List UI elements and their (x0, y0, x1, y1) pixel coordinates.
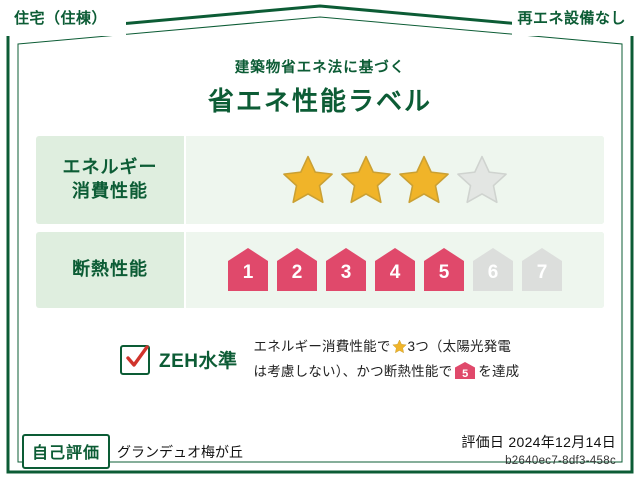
grade-house-2: 2 (275, 246, 319, 294)
footer-evaluation: 自己評価 グランデュオ梅が丘 (22, 434, 243, 469)
grade-number-5: 5 (422, 262, 466, 284)
tag-renewable-energy: 再エネ設備なし (517, 0, 626, 34)
energy-performance-label: 住宅（住棟） 再エネ設備なし 建築物省エネ法に基づく 省エネ性能ラベル エネルギ… (0, 0, 640, 480)
star-icon-filled-1 (281, 153, 335, 207)
inline-grade-house-icon: 5 (454, 361, 476, 380)
energy-label-line1: エネルギー (63, 156, 158, 180)
grade-house-6: 6 (471, 246, 515, 294)
grade-house-4: 4 (373, 246, 417, 294)
star-icon-filled-2 (339, 153, 393, 207)
grade-number-6: 6 (471, 262, 515, 284)
evaluation-type-badge: 自己評価 (22, 434, 110, 469)
inline-grade-number: 5 (454, 365, 476, 383)
star-icon-filled-3 (397, 153, 451, 207)
grade-house-5: 5 (422, 246, 466, 294)
grade-house-3: 3 (324, 246, 368, 294)
page-title: 省エネ性能ラベル (0, 81, 640, 118)
inline-star-icon (392, 339, 407, 361)
insulation-grades-container: 1 2 3 4 5 (186, 232, 604, 308)
zeh-desc-line1-b: 3つ（太陽光発電 (408, 339, 512, 354)
star-rating (281, 153, 509, 207)
grade-house-1: 1 (226, 246, 270, 294)
zeh-title: ZEH水準 (159, 346, 238, 373)
energy-label-line2: 消費性能 (72, 180, 148, 204)
grade-house-7: 7 (520, 246, 564, 294)
evaluation-date: 評価日 2024年12月14日 (461, 432, 616, 452)
evaluation-id: b2640ec7-8df3-458c (461, 455, 616, 467)
zeh-checkbox[interactable] (120, 345, 150, 375)
tag-building-type: 住宅（住棟） (14, 0, 107, 34)
grade-number-7: 7 (520, 262, 564, 284)
grade-number-2: 2 (275, 262, 319, 284)
heading-subtitle: 建築物省エネ法に基づく (0, 56, 640, 77)
grade-number-1: 1 (226, 262, 270, 284)
star-icon-empty-4 (455, 153, 509, 207)
footer-meta: 評価日 2024年12月14日 b2640ec7-8df3-458c (461, 432, 616, 467)
energy-performance-row: エネルギー 消費性能 (36, 136, 604, 224)
energy-performance-label-text: エネルギー 消費性能 (36, 136, 184, 224)
insulation-performance-label-text: 断熱性能 (36, 232, 184, 308)
grade-number-4: 4 (373, 262, 417, 284)
check-icon (123, 343, 151, 373)
zeh-row: ZEH水準 エネルギー消費性能で3つ（太陽光発電 は考慮しない）、かつ断熱性能で… (120, 336, 540, 384)
zeh-desc-line2-b: を達成 (478, 364, 519, 379)
insulation-label: 断熱性能 (72, 258, 148, 282)
zeh-desc-line2-a: は考慮しない）、かつ断熱性能で (254, 364, 453, 379)
grade-scale: 1 2 3 4 5 (226, 246, 564, 294)
zeh-desc-line1-a: エネルギー消費性能で (254, 339, 391, 354)
grade-number-3: 3 (324, 262, 368, 284)
zeh-description: エネルギー消費性能で3つ（太陽光発電 は考慮しない）、かつ断熱性能で5を達成 (254, 336, 520, 384)
energy-stars-container (186, 136, 604, 224)
building-name: グランデュオ梅が丘 (117, 442, 243, 462)
insulation-performance-row: 断熱性能 1 2 3 4 (36, 232, 604, 308)
